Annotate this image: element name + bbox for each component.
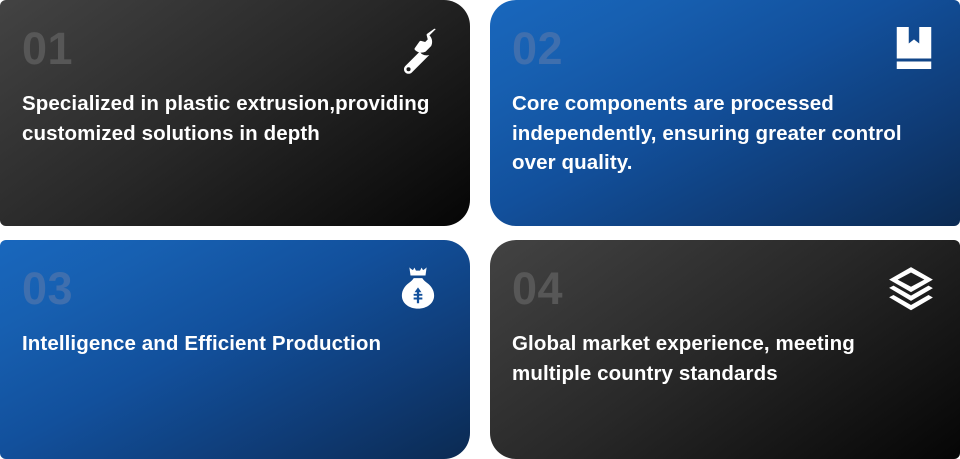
feature-card-01[interactable]: 01 Specialized in plastic extrusion,prov… <box>0 0 470 226</box>
card-number: 02 <box>512 26 936 71</box>
card-headline: Specialized in plastic extrusion,providi… <box>22 89 437 148</box>
card-number: 03 <box>22 266 446 311</box>
book-bookmark-icon <box>890 24 938 72</box>
layers-stack-icon <box>886 264 936 314</box>
card-headline: Global market experience, meeting multip… <box>512 329 927 388</box>
card-number: 04 <box>512 266 936 311</box>
feature-card-04[interactable]: 04 Global market experience, meeting mul… <box>490 240 960 459</box>
money-bag-yen-icon <box>394 264 442 312</box>
wrench-icon <box>394 24 444 74</box>
feature-card-02[interactable]: 02 Core components are processed indepen… <box>490 0 960 226</box>
feature-card-03[interactable]: 03 Intelligence and Efficient Production <box>0 240 470 459</box>
card-number: 01 <box>22 26 446 71</box>
feature-card-grid: 01 Specialized in plastic extrusion,prov… <box>0 0 960 459</box>
card-headline: Core components are processed independen… <box>512 89 927 178</box>
card-headline: Intelligence and Efficient Production <box>22 329 437 359</box>
